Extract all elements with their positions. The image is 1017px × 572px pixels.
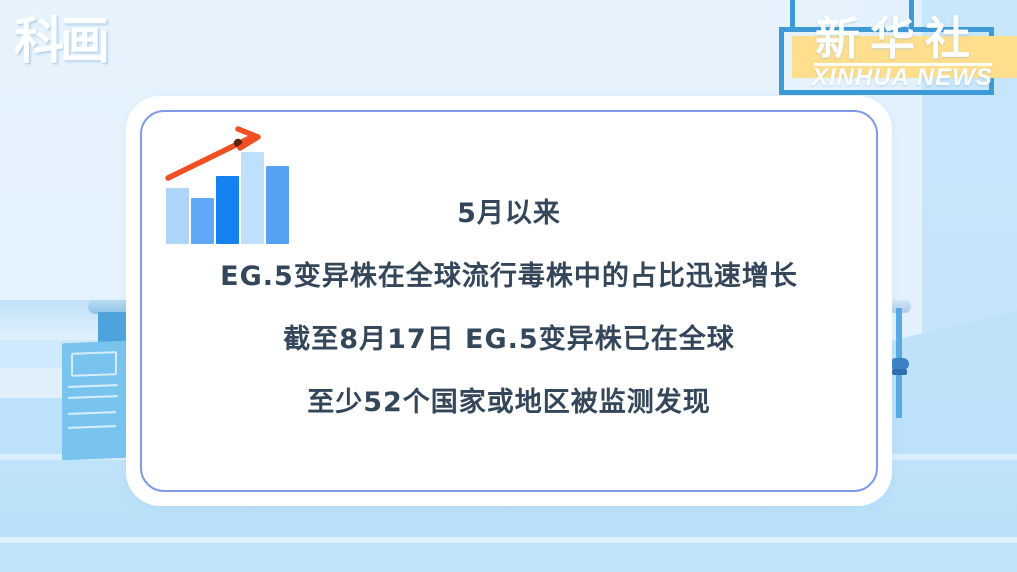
- logo-english-name: XINHUA NEWS: [812, 66, 993, 90]
- logo-hanger-left: [790, 0, 795, 30]
- content-card: 5月以来 EG.5变异株在全球流行毒株中的占比迅速增长 截至8月17日 EG.5…: [126, 96, 892, 506]
- card-line-2: EG.5变异株在全球流行毒株中的占比迅速增长: [220, 263, 798, 290]
- logo-chinese-name: 新华社: [815, 16, 980, 61]
- card-line-1: 5月以来: [457, 200, 561, 227]
- xinhua-logo: 新华社 XINHUA NEWS: [757, 0, 997, 110]
- pole-knob-shadow: [892, 369, 907, 375]
- clipboard-screen-icon: [71, 351, 117, 377]
- background-floor-band-3: [0, 543, 1017, 572]
- card-text-block: 5月以来 EG.5变异株在全球流行毒株中的占比迅速增长 截至8月17日 EG.5…: [126, 96, 892, 506]
- card-line-3: 截至8月17日 EG.5变异株已在全球: [283, 326, 734, 353]
- program-watermark: 科画: [14, 16, 106, 66]
- screenshot-root: 科画 新华社 XINHUA NEWS 5月以来 EG.5变: [0, 0, 1017, 572]
- card-line-4: 至少52个国家或地区被监测发现: [307, 389, 711, 416]
